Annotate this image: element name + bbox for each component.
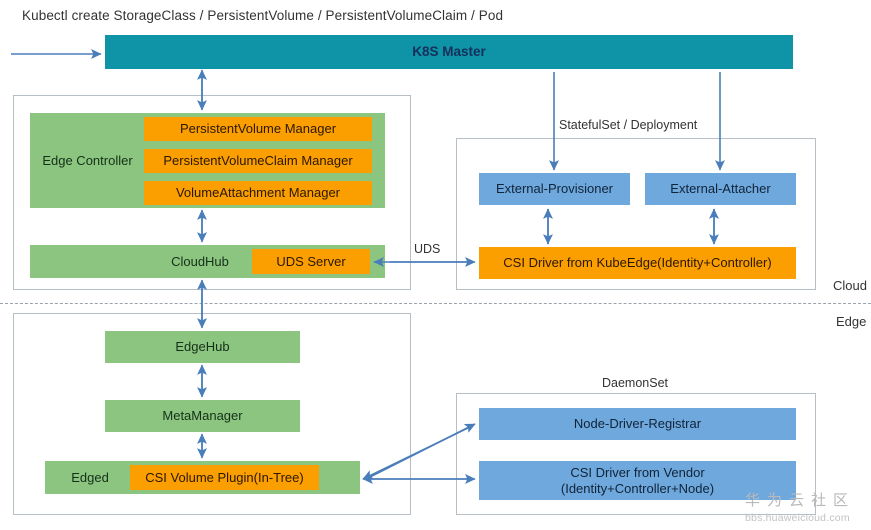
cloudhub-label: CloudHub: [150, 245, 250, 278]
diagram-title: Kubectl create StorageClass / Persistent…: [22, 8, 503, 23]
external-provisioner-box: External-Provisioner: [479, 173, 630, 205]
zone-label-edge: Edge: [836, 314, 866, 329]
csi-driver-kubeedge-box: CSI Driver from KubeEdge(Identity+Contro…: [479, 247, 796, 279]
uds-server-box: UDS Server: [252, 249, 370, 274]
csi-driver-vendor-line1: CSI Driver from Vendor: [570, 465, 704, 480]
metamanager-box: MetaManager: [105, 400, 300, 432]
watermark-url: bbs.huaweicloud.com: [745, 512, 850, 524]
statefulset-deployment-label: StatefulSet / Deployment: [559, 118, 697, 132]
watermark-brand: 华为云社区: [745, 489, 855, 510]
k8s-master-box: K8S Master: [105, 35, 793, 69]
external-attacher-box: External-Attacher: [645, 173, 796, 205]
edge-controller-label: Edge Controller: [30, 113, 145, 208]
zone-label-cloud: Cloud: [833, 278, 867, 293]
csi-driver-vendor-line2: (Identity+Controller+Node): [561, 481, 714, 496]
cloud-edge-divider: [0, 303, 871, 304]
uds-link-label: UDS: [414, 242, 440, 256]
persistentvolumeclaim-manager-box: PersistentVolumeClaim Manager: [144, 149, 372, 173]
csi-volume-plugin-box: CSI Volume Plugin(In-Tree): [130, 465, 319, 490]
daemonset-label: DaemonSet: [602, 376, 668, 390]
edged-label: Edged: [52, 461, 128, 494]
diagram-canvas: Kubectl create StorageClass / Persistent…: [0, 0, 871, 530]
persistentvolume-manager-box: PersistentVolume Manager: [144, 117, 372, 141]
node-driver-registrar-box: Node-Driver-Registrar: [479, 408, 796, 440]
edgehub-box: EdgeHub: [105, 331, 300, 363]
volumeattachment-manager-box: VolumeAttachment Manager: [144, 181, 372, 205]
